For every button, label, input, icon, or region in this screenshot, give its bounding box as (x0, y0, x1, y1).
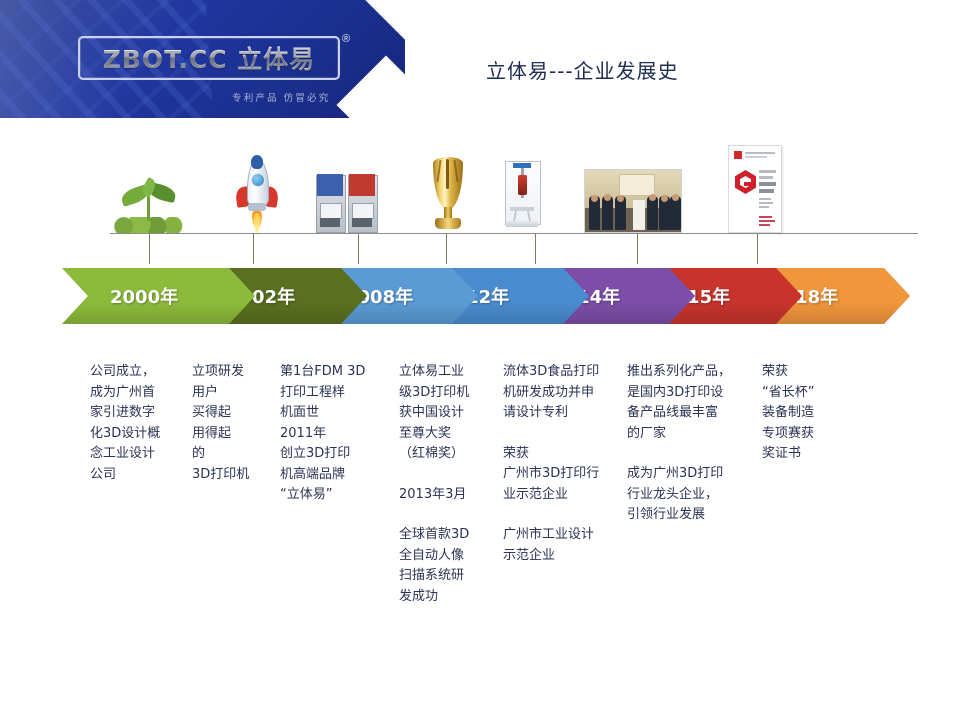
description-line: 引领行业发展 (627, 507, 705, 522)
description-line: 立体易工业 (399, 364, 464, 379)
group-photo-icon (584, 169, 682, 233)
chevron-2000[interactable]: 2000年 (62, 268, 255, 324)
registered-trademark-icon: ® (342, 33, 350, 45)
description-line: （红棉奖） (399, 446, 464, 461)
description-line: 级3D打印机 (399, 385, 469, 400)
milestone-icon-2014 (488, 159, 556, 233)
description-line: 获中国设计 (399, 405, 464, 420)
description-line: 荣获 (503, 446, 529, 461)
printer-pair-icon (316, 173, 382, 233)
description-line: 立项研发 (192, 364, 244, 379)
description-paragraph: 公司成立，成为广州首家引进数字化3D设计概念工业设计公司 (90, 362, 188, 485)
description-line: 第1台FDM 3D (280, 364, 365, 379)
description-column-2014: 流体3D食品打印机研发成功并申请设计专利荣获广州市3D打印行业示范企业广州市工业… (503, 362, 621, 566)
description-column-2000: 公司成立，成为广州首家引进数字化3D设计概念工业设计公司 (90, 362, 188, 485)
description-line: 广州市工业设计 (503, 527, 594, 542)
description-line: 的厂家 (627, 426, 666, 441)
trophy-icon (430, 157, 466, 233)
description-line: 奖证书 (762, 446, 801, 461)
timeline-tick (757, 234, 758, 264)
timeline-tick (535, 234, 536, 264)
description-column-2008: 第1台FDM 3D打印工程样机面世2011年创立3D打印机高端品牌“立体易” (280, 362, 392, 506)
milestone-icon-2002 (218, 155, 296, 233)
timeline-tick (149, 234, 150, 264)
banner-corner-clip (345, 0, 405, 118)
sprout-icon (112, 171, 186, 233)
milestone-icon-2015 (577, 169, 689, 233)
description-line: 用户 (192, 385, 218, 400)
description-line: 打印工程样 (280, 385, 345, 400)
description-line: 广州市3D打印行 (503, 466, 599, 481)
timeline-tick (358, 234, 359, 264)
description-line: 至尊大奖 (399, 426, 451, 441)
description-line: 家引进数字 (90, 405, 155, 420)
logo-wordmark: ZBOT.CC 立体易 (103, 40, 316, 76)
description-paragraph: 荣获广州市3D打印行业示范企业 (503, 444, 621, 506)
company-logo: ZBOT.CC 立体易 (78, 36, 340, 80)
description-line: 念工业设计 (90, 446, 155, 461)
description-line: 业示范企业 (503, 487, 568, 502)
description-paragraph: 立体易工业级3D打印机获中国设计至尊大奖（红棉奖） (399, 362, 499, 465)
page-title: 立体易---企业发展史 (486, 55, 679, 84)
description-line: 全球首款3D (399, 527, 469, 542)
description-line: 备产品线最丰富 (627, 405, 718, 420)
description-line: “立体易” (280, 487, 332, 502)
description-paragraph: 推出系列化产品，是国内3D打印设备产品线最丰富的厂家 (627, 362, 751, 444)
description-line: 2013年3月 (399, 487, 466, 502)
description-column-2018: 荣获“省长杯”装备制造专项赛获奖证书 (762, 362, 862, 465)
description-line: 请设计专利 (503, 405, 568, 420)
description-line: “省长杯” (762, 385, 814, 400)
description-line: 2011年 (280, 426, 326, 441)
description-line: 发成功 (399, 589, 438, 604)
description-line: 公司 (90, 467, 116, 482)
milestone-icon-2000 (110, 171, 188, 233)
frame-printer-icon (503, 159, 541, 233)
description-line: 成为广州3D打印 (627, 466, 723, 481)
description-line: 行业龙头企业， (627, 487, 718, 502)
rocket-icon (230, 155, 284, 233)
description-line: 示范企业 (503, 548, 555, 563)
milestone-icons-row (0, 128, 960, 233)
description-line: 流体3D食品打印 (503, 364, 599, 379)
description-line: 机高端品牌 (280, 467, 345, 482)
description-paragraph: 第1台FDM 3D打印工程样机面世2011年创立3D打印机高端品牌“立体易” (280, 362, 392, 506)
description-paragraph: 立项研发用户买得起用得起的3D打印机 (192, 362, 276, 485)
timeline-connector-line (110, 233, 918, 234)
description-line: 化3D设计概 (90, 426, 160, 441)
description-line: 是国内3D打印设 (627, 385, 723, 400)
timeline-chevron-bar: 2000年 2002年 2008年 2012年 2014年 2015年 2018… (0, 268, 960, 324)
description-line: 专项赛获 (762, 426, 814, 441)
description-line: 成为广州首 (90, 385, 155, 400)
brand-banner: ZBOT.CC 立体易 ® 专利产品 仿冒必究 (0, 0, 405, 118)
description-paragraph: 2013年3月 (399, 485, 499, 506)
description-line: 机研发成功并申 (503, 385, 594, 400)
slide-root: ZBOT.CC 立体易 ® 专利产品 仿冒必究 立体易---企业发展史 (0, 0, 960, 720)
description-line: 推出系列化产品， (627, 364, 731, 379)
description-column-2012: 立体易工业级3D打印机获中国设计至尊大奖（红棉奖）2013年3月全球首款3D全自… (399, 362, 499, 607)
milestone-icon-2008 (305, 173, 393, 233)
milestone-description-columns: 公司成立，成为广州首家引进数字化3D设计概念工业设计公司 立项研发用户买得起用得… (0, 362, 960, 662)
description-paragraph: 流体3D食品打印机研发成功并申请设计专利 (503, 362, 621, 424)
chevron-year-label: 2000年 (110, 283, 178, 309)
description-paragraph: 成为广州3D打印行业龙头企业，引领行业发展 (627, 464, 751, 526)
description-line: 买得起 (192, 405, 231, 420)
description-line: 荣获 (762, 364, 788, 379)
description-line: 全自动人像 (399, 548, 464, 563)
milestone-icon-2018 (700, 145, 810, 233)
certificate-icon (728, 145, 782, 233)
description-line: 用得起 (192, 426, 231, 441)
description-column-2015: 推出系列化产品，是国内3D打印设备产品线最丰富的厂家成为广州3D打印行业龙头企业… (627, 362, 751, 526)
description-line: 创立3D打印 (280, 446, 350, 461)
timeline-tick (446, 234, 447, 264)
description-line: 扫描系统研 (399, 568, 464, 583)
timeline-tick (637, 234, 638, 264)
description-line: 装备制造 (762, 405, 814, 420)
milestone-icon-2012 (412, 157, 484, 233)
description-line: 3D打印机 (192, 467, 249, 482)
description-paragraph: 荣获“省长杯”装备制造专项赛获奖证书 (762, 362, 862, 465)
logo-tagline: 专利产品 仿冒必究 (232, 90, 330, 104)
timeline-tick (253, 234, 254, 264)
description-line: 机面世 (280, 405, 319, 420)
description-line: 的 (192, 446, 205, 461)
description-paragraph: 广州市工业设计示范企业 (503, 525, 621, 566)
description-column-2002: 立项研发用户买得起用得起的3D打印机 (192, 362, 276, 485)
description-paragraph: 全球首款3D全自动人像扫描系统研发成功 (399, 525, 499, 607)
description-line: 公司成立， (90, 364, 155, 379)
